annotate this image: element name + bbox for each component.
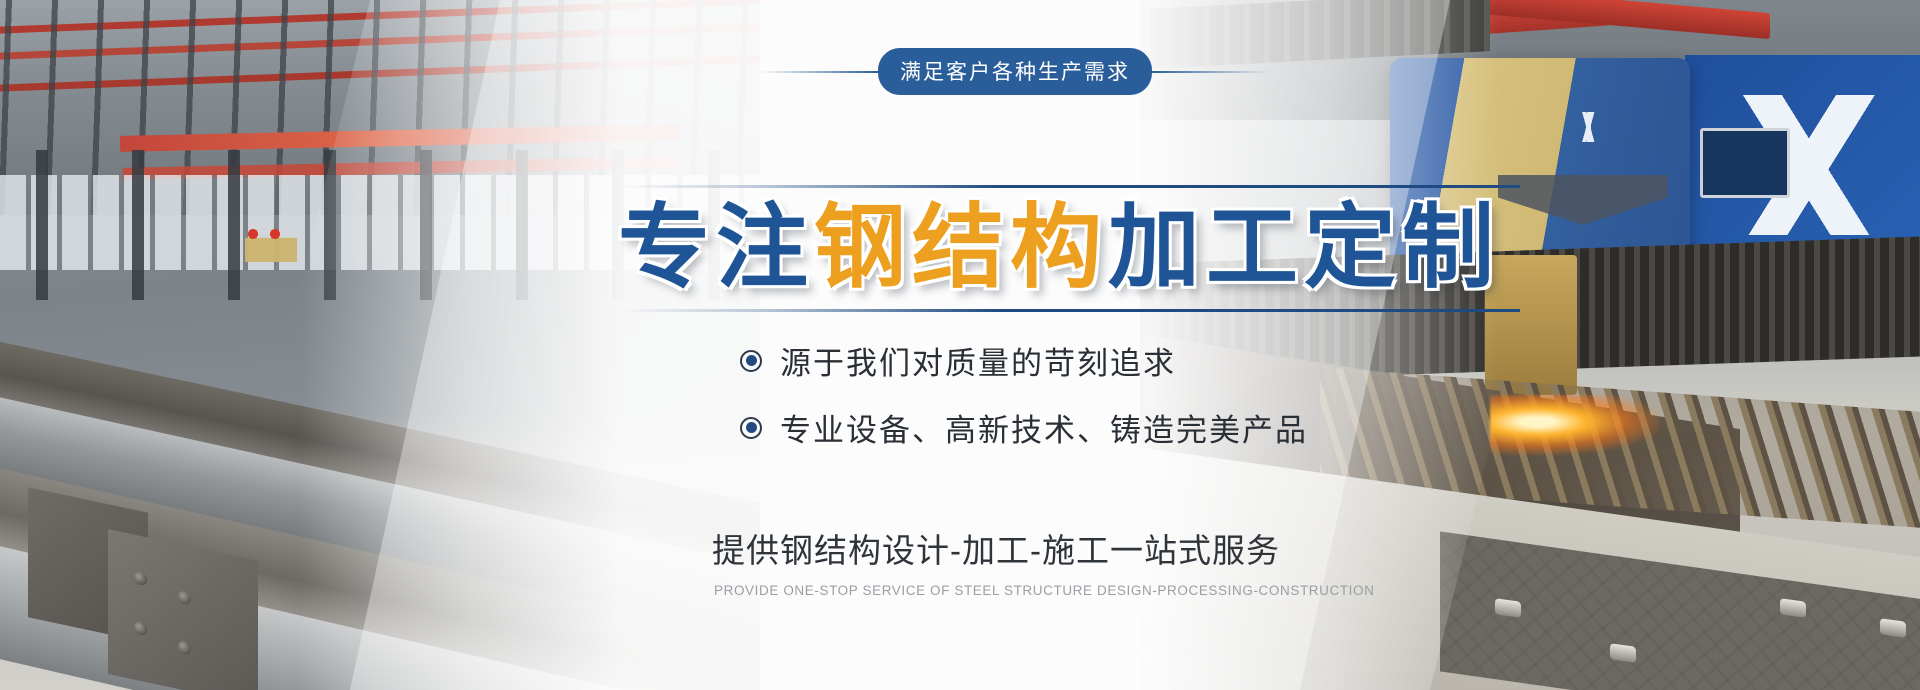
headline-part-3: 加工定制	[1108, 197, 1500, 299]
badge-row: 满足客户各种生产需求	[760, 48, 1270, 95]
banner-content: 满足客户各种生产需求 专注钢结构加工定制 源于我们对质量的苛刻追求 专业设备、高…	[0, 0, 1920, 690]
headline-rule-bottom	[620, 309, 1520, 312]
headline-part-1: 专注	[618, 197, 814, 299]
feature-list: 源于我们对质量的苛刻追求 专业设备、高新技术、铸造完美产品	[740, 338, 1308, 472]
service-tagline-en: PROVIDE ONE-STOP SERVICE OF STEEL STRUCT…	[714, 583, 1374, 598]
tagline-badge: 满足客户各种生产需求	[878, 48, 1152, 95]
badge-right-line-icon	[1152, 71, 1270, 73]
badge-left-line-icon	[760, 71, 878, 73]
ring-bullet-icon	[740, 417, 762, 439]
hero-banner: 满足客户各种生产需求 专注钢结构加工定制 源于我们对质量的苛刻追求 专业设备、高…	[0, 0, 1920, 690]
feature-text: 源于我们对质量的苛刻追求	[780, 338, 1176, 383]
ring-bullet-icon	[740, 350, 762, 372]
feature-text: 专业设备、高新技术、铸造完美产品	[780, 405, 1308, 450]
headline-part-2: 钢结构	[814, 197, 1108, 299]
service-tagline: 提供钢结构设计-加工-施工一站式服务	[712, 524, 1280, 572]
list-item: 专业设备、高新技术、铸造完美产品	[740, 405, 1308, 450]
list-item: 源于我们对质量的苛刻追求	[740, 338, 1308, 383]
headline: 专注钢结构加工定制	[618, 196, 1500, 300]
headline-rule-top	[620, 185, 1520, 188]
